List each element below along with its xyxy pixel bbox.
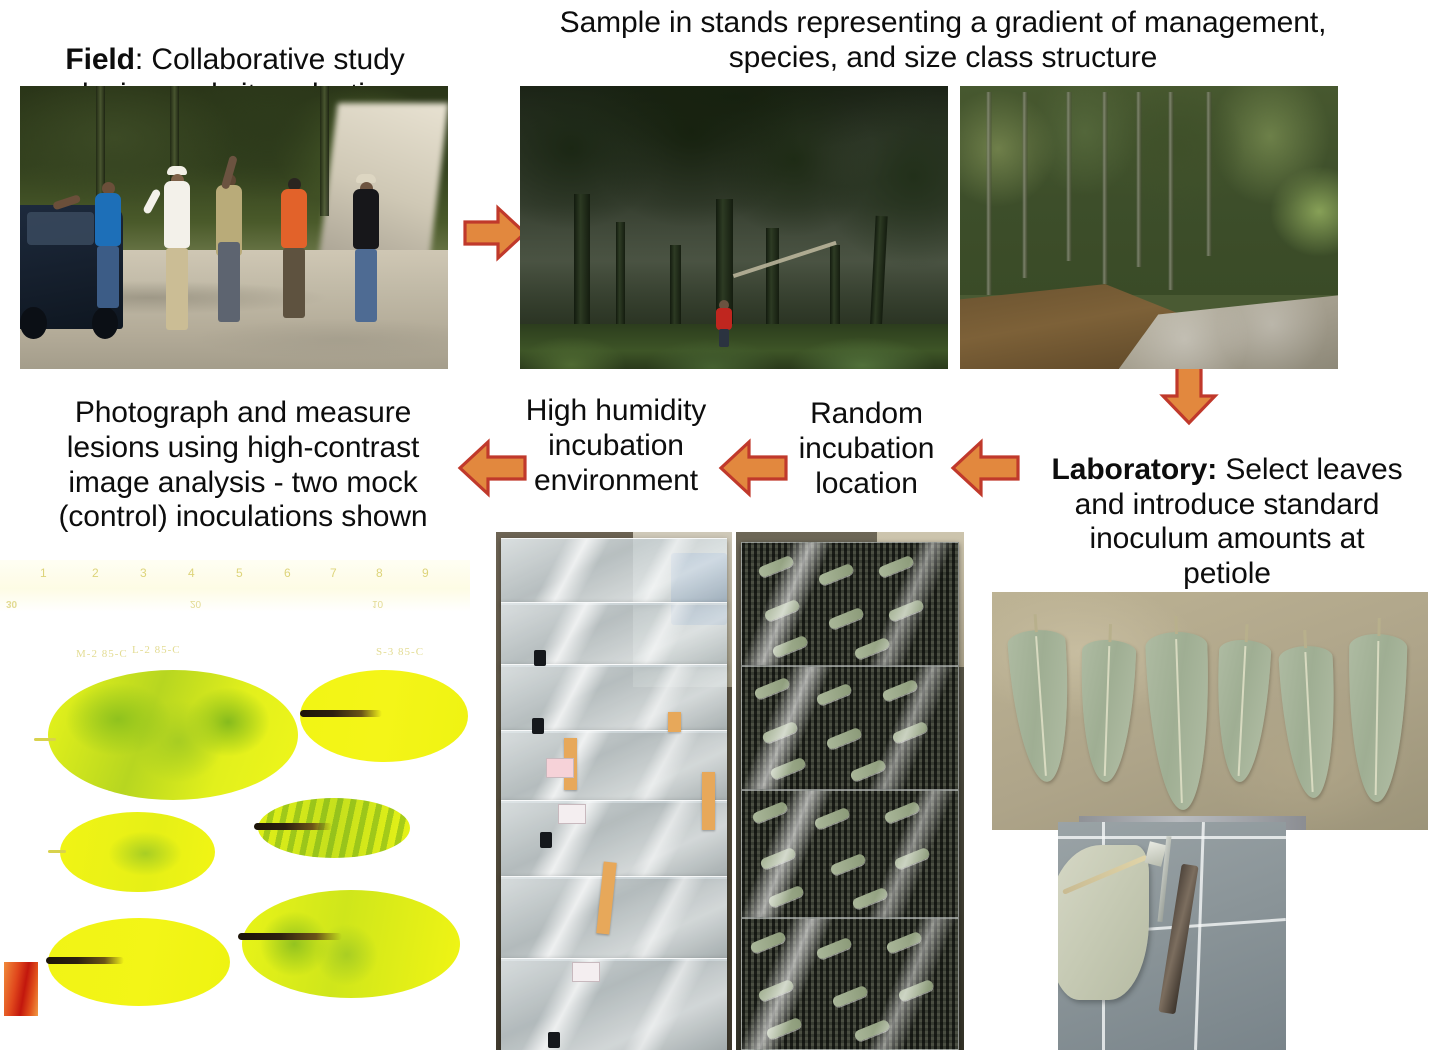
bag-clip [548, 1032, 560, 1048]
incubated-leaf [753, 677, 790, 701]
photo-bagged-incubation-trays [496, 532, 732, 1050]
caption-image-analysis: Photograph and measure lesions using hig… [28, 396, 458, 535]
tree-stem [1136, 92, 1142, 267]
caption-random-location: Random incubation location [784, 397, 949, 501]
arrow-humidity-to-analysis-icon [456, 437, 528, 499]
sample-tag [546, 758, 574, 778]
caption-high-humidity: High humidity incubation environment [500, 394, 732, 498]
ruler-number: 9 [422, 566, 429, 580]
caption-laboratory: Laboratory: Select leaves and introduce … [1024, 418, 1430, 592]
sealed-bag [501, 538, 728, 605]
person-legs [218, 242, 240, 322]
photo-field-crew [20, 86, 448, 369]
orange-tape-label [702, 772, 715, 830]
leaf-midrib [1035, 636, 1047, 776]
ruler-number: 3 [140, 566, 147, 580]
scale-ruler [0, 560, 470, 612]
leaf-blade-closeup [1058, 845, 1149, 1000]
scan-leaf-label: L-2 85-C [132, 644, 181, 656]
incubated-leaf [829, 853, 866, 877]
incubated-leaf [853, 637, 890, 661]
tree-stem [1066, 92, 1072, 262]
scan-leaf [60, 812, 215, 892]
leaf-midrib [1104, 646, 1111, 777]
leaf-petiole [1377, 618, 1380, 636]
person-torso [353, 189, 379, 249]
incubation-tray [741, 918, 960, 1050]
incubated-leaf [761, 721, 798, 745]
arrow-field-to-stands-icon [462, 200, 528, 266]
leaf-petiole [1174, 616, 1178, 634]
photo-selected-leaves [992, 592, 1428, 830]
incubated-leaf [813, 807, 850, 831]
sealed-bag [501, 958, 728, 1050]
ruler-number-mirrored: 20 [190, 598, 201, 609]
incubated-leaf [763, 599, 800, 623]
lesion-streak [46, 957, 124, 964]
ruler-number-mirrored: 10 [372, 598, 383, 609]
ruler-number-mirrored: 30 [6, 598, 17, 609]
incubated-leaf [817, 563, 854, 587]
tree-stem [986, 92, 992, 296]
incubated-leaf [849, 759, 886, 783]
incubated-leaf [827, 607, 864, 631]
sample-tag [572, 962, 600, 982]
scan-leaf-with-lesion [258, 798, 410, 858]
incubated-leaf [815, 937, 852, 961]
road-vanishing [318, 103, 448, 261]
bag-clip [532, 718, 544, 734]
caption-analysis-text: Photograph and measure lesions using hig… [58, 396, 427, 533]
leaf-midrib [1304, 652, 1313, 792]
incubated-leaf [883, 801, 920, 825]
scan-leaf-label: M-2 85-C [76, 648, 128, 660]
tree-stem [1102, 92, 1108, 284]
lesion-streak [238, 933, 342, 940]
scan-leaf-petiole [48, 850, 66, 853]
incubated-leaf [771, 635, 808, 659]
ruler-number: 2 [92, 566, 99, 580]
arrow-random-to-humidity-icon [717, 437, 789, 499]
crew-member [278, 178, 310, 318]
leaf-midrib [1238, 646, 1247, 777]
lesion-streak [300, 710, 382, 717]
crew-member [350, 178, 382, 322]
incubated-leaf [853, 1019, 890, 1043]
lesion-streak [254, 823, 332, 830]
photo-mesh-incubation-trays [736, 532, 964, 1050]
scan-leaf-with-lesion [48, 918, 230, 1006]
truck-window [27, 212, 94, 244]
caption-humidity-text: High humidity incubation environment [526, 394, 706, 497]
leaf-midrib [1375, 641, 1380, 796]
incubated-leaf [825, 727, 862, 751]
scan-leaf-label: S-3 85-C [376, 646, 424, 658]
ruler-number: 5 [236, 566, 243, 580]
tree-stem [1206, 92, 1212, 256]
stand-foliage [960, 86, 1338, 295]
bag-clip [534, 650, 546, 666]
incubated-leaf [767, 885, 804, 909]
arrow-stands-to-lab-icon [1158, 362, 1220, 426]
incubated-leaf [893, 847, 930, 871]
worker-legs [719, 329, 729, 347]
leaf-petiole [1108, 624, 1112, 642]
ruler-number: 1 [40, 566, 47, 580]
crew-member [160, 170, 194, 330]
person-torso [95, 193, 121, 246]
tree-trunk [320, 86, 329, 216]
scan-leaf-blade [48, 670, 298, 800]
sealed-bag [501, 730, 728, 803]
crew-member [92, 182, 124, 308]
person-torso [281, 189, 307, 248]
color-calibration-chip [4, 962, 38, 1016]
ruler-number: 8 [376, 566, 383, 580]
tree-stem [1168, 92, 1174, 290]
ruler-number: 6 [284, 566, 291, 580]
incubated-leaf [885, 931, 922, 955]
scan-leaf-petiole [34, 738, 56, 741]
ruler-number: 7 [330, 566, 337, 580]
photo-tanoak-stand [960, 86, 1338, 369]
incubation-tray [741, 666, 960, 790]
scan-leaf [48, 670, 298, 800]
worker-red-jacket [716, 308, 732, 330]
person-legs [97, 246, 119, 308]
incubated-leaf [765, 1017, 802, 1041]
scan-leaf-with-lesion [242, 890, 460, 998]
scan-leaf-with-lesion [300, 670, 468, 762]
incubated-leaf [769, 757, 806, 781]
incubation-tray [741, 790, 960, 918]
figure-canvas: Field: Collaborative study design and si… [0, 0, 1440, 1050]
sample-tag [558, 804, 586, 824]
scan-leaf-blade [60, 812, 215, 892]
scan-leaf-blade [242, 890, 460, 998]
photo-forest-canopy [520, 86, 948, 369]
incubated-leaf [757, 979, 794, 1003]
incubated-leaf [757, 555, 794, 579]
caption-field-bold-prefix: Field [65, 43, 135, 76]
photo-thresholded-leaf-scan: 1 2 3 4 5 6 7 8 9 30 20 10 M-2 85-C L-2 … [0, 560, 470, 1030]
understory-shrubs [520, 324, 948, 369]
worker-with-pole-pruner [716, 300, 734, 348]
mat-gridline [1058, 836, 1286, 839]
incubated-leaf [751, 801, 788, 825]
ruler-number: 4 [188, 566, 195, 580]
bag-clip [540, 832, 552, 848]
incubated-leaf [891, 721, 928, 745]
caption-lab-bold-prefix: Laboratory: [1052, 453, 1218, 486]
incubated-leaf [897, 979, 934, 1003]
incubated-leaf [749, 931, 786, 955]
incubated-leaf [759, 847, 796, 871]
person-torso [164, 181, 190, 248]
incubated-leaf [831, 985, 868, 1009]
person-legs [355, 249, 377, 322]
caption-stand-text: Sample in stands representing a gradient… [560, 6, 1327, 74]
incubated-leaf [877, 555, 914, 579]
crew-member [212, 152, 246, 322]
caption-random-text: Random incubation location [799, 397, 935, 500]
tree-stem [1022, 92, 1028, 279]
caption-stand-sampling: Sample in stands representing a gradient… [548, 6, 1338, 76]
person-legs [283, 248, 305, 318]
leaf-petiole [1244, 624, 1248, 642]
photo-petiole-inoculation [1058, 822, 1286, 1050]
incubated-leaf [815, 683, 852, 707]
person-legs [166, 248, 188, 330]
incubated-leaf [851, 887, 888, 911]
incubated-leaf [881, 679, 918, 703]
leaf-midrib [1175, 639, 1183, 803]
incubation-tray [741, 542, 960, 666]
incubated-leaf [887, 599, 924, 623]
arrow-lab-to-random-icon [949, 437, 1021, 499]
orange-tape-label [668, 712, 681, 732]
